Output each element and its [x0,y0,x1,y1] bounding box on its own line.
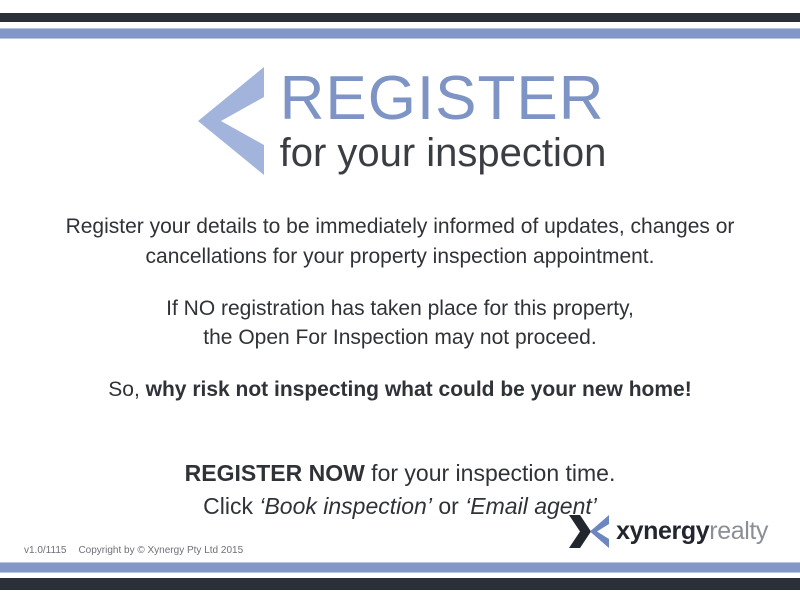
spacer [50,405,750,457]
prompt-emphasis: why risk not inspecting what could be yo… [146,378,692,401]
brand-lockup: xynergyrealty [569,515,768,548]
xynergy-x-logo-icon [569,515,609,548]
paragraph-prompt: So, why risk not inspecting what could b… [50,375,750,405]
version-label: v1.0/1115 [24,545,66,556]
cta-or-label: or [432,493,465,519]
top-blue-rule [0,28,800,39]
warning-line-1: If NO registration has taken place for t… [166,297,634,320]
paragraph-warning: If NO registration has taken place for t… [50,294,750,354]
spacer [50,272,750,294]
page-title: REGISTER [280,67,605,130]
bottom-blue-rule [0,562,800,573]
footer-meta: v1.0/1115Copyright by © Xynergy Pty Ltd … [24,545,243,556]
register-inspection-page: REGISTER for your inspection Register yo… [0,0,800,600]
call-to-action: REGISTER NOW for your inspection time. C… [50,457,750,524]
top-dark-rule [0,13,800,22]
cta-register-now: REGISTER NOW [185,460,365,486]
copyright-label: Copyright by © Xynergy Pty Ltd 2015 [78,545,243,556]
cta-line-1-rest: for your inspection time. [365,460,616,486]
page-subtitle: for your inspection [280,132,607,175]
brand-name-primary: xynergy [616,517,709,545]
cta-book-inspection-option: ‘Book inspection’ [259,493,432,519]
masthead: REGISTER for your inspection [0,62,800,180]
cta-click-label: Click [203,493,259,519]
body-copy: Register your details to be immediately … [50,212,750,524]
chevron-left-icon [194,67,266,175]
bottom-dark-rule [0,578,800,590]
brand-name-secondary: realty [709,517,768,545]
masthead-text: REGISTER for your inspection [280,67,607,175]
cta-line-1: REGISTER NOW for your inspection time. [50,457,750,490]
warning-line-2: the Open For Inspection may not proceed. [203,326,596,349]
brand-wordmark: xynergyrealty [616,519,768,544]
spacer [50,353,750,375]
paragraph-intro: Register your details to be immediately … [50,212,750,272]
prompt-prefix: So, [108,378,145,401]
